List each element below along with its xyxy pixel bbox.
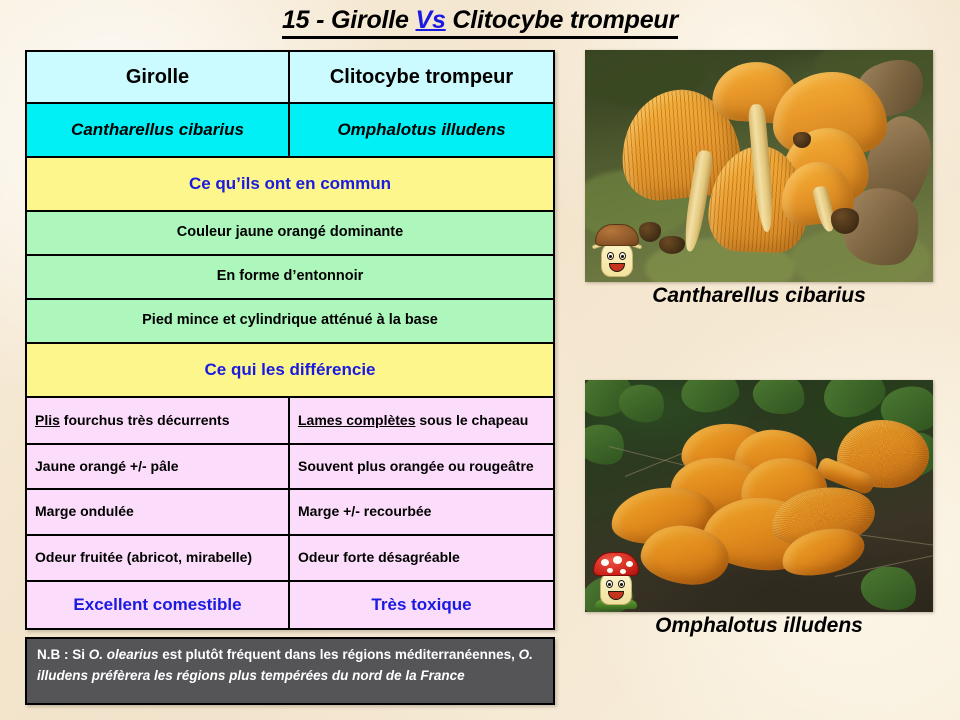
photo-omphalotus-illudens — [585, 380, 933, 612]
table-row-difference-4: Odeur fruitée (abricot, mirabelle) Odeur… — [27, 536, 553, 582]
table-row-verdict: Excellent comestible Très toxique — [27, 582, 553, 628]
amanita-cap-spot — [620, 569, 626, 574]
difference-right-gills: Lames complètes sous le chapeau — [290, 398, 553, 443]
photo-cantharellus-scene — [585, 50, 933, 282]
header-cell-clitocybe: Clitocybe trompeur — [290, 52, 553, 102]
amanita-mascot-body — [600, 571, 632, 605]
common-trait-stem: Pied mince et cylindrique atténué à la b… — [27, 300, 553, 342]
amanita-cap-spot — [613, 556, 622, 564]
page-title-vs: Vs — [416, 6, 446, 34]
amanita-mascot-cap — [593, 552, 639, 576]
common-banner-label: Ce qu’ils ont en commun — [27, 158, 553, 210]
difference-right-odor: Odeur forte désagréable — [290, 536, 553, 580]
ivy-leaf — [585, 416, 631, 471]
verdict-toxic: Très toxique — [290, 582, 553, 628]
header-cell-girolle: Girolle — [27, 52, 290, 102]
amanita-cap-spot — [626, 561, 633, 567]
verdict-edible: Excellent comestible — [27, 582, 290, 628]
acorn — [639, 222, 661, 242]
difference-right-gills-rest: sous le chapeau — [416, 412, 529, 428]
amanita-mascot-eye-right — [618, 580, 625, 588]
differences-banner-label: Ce qui les différencie — [27, 344, 553, 396]
note-part2: est plutôt fréquent dans les régions méd… — [159, 647, 519, 662]
amanita-mascot-eye-left — [606, 580, 613, 588]
difference-left-gills: Plis fourchus très décurrents — [27, 398, 290, 443]
ivy-leaf — [750, 380, 808, 418]
comparison-table: Girolle Clitocybe trompeur Cantharellus … — [25, 50, 555, 630]
amanita-cap-spot — [607, 568, 613, 573]
cep-mascot-cap — [595, 224, 639, 246]
difference-left-odor: Odeur fruitée (abricot, mirabelle) — [27, 536, 290, 580]
ivy-leaf — [818, 380, 890, 423]
cep-mascot-body — [601, 241, 633, 277]
ivy-leaf — [857, 560, 922, 612]
page-title: 15 - Girolle Vs Clitocybe trompeur — [282, 6, 678, 39]
cep-mascot-eye-left — [607, 252, 614, 260]
table-row-common-3: Pied mince et cylindrique atténué à la b… — [27, 300, 553, 344]
common-trait-shape: En forme d’entonnoir — [27, 256, 553, 298]
page-title-prefix: 15 - Girolle — [282, 6, 416, 34]
photo-caption-cantharellus: Cantharellus cibarius — [585, 284, 933, 308]
table-row-difference-3: Marge ondulée Marge +/- recourbée — [27, 490, 553, 536]
table-row-common-banner: Ce qu’ils ont en commun — [27, 158, 553, 212]
table-row-difference-1: Plis fourchus très décurrents Lames comp… — [27, 398, 553, 445]
note-italic-olearius: O. olearius — [89, 647, 159, 662]
latin-name-omphalotus: Omphalotus illudens — [290, 104, 553, 156]
table-row-common-2: En forme d’entonnoir — [27, 256, 553, 300]
amanita-mascot-icon — [593, 552, 639, 608]
difference-right-color: Souvent plus orangée ou rougeâtre — [290, 445, 553, 488]
difference-left-gills-underline: Plis — [35, 412, 60, 428]
amanita-cap-spot — [601, 559, 609, 566]
photo-omphalotus-scene — [585, 380, 933, 612]
note-block: N.B : Si O. olearius est plutôt fréquent… — [25, 637, 555, 705]
difference-right-gills-underline: Lames complètes — [298, 412, 416, 428]
table-row-latin-names: Cantharellus cibarius Omphalotus illuden… — [27, 104, 553, 158]
difference-left-margin: Marge ondulée — [27, 490, 290, 534]
amanita-mascot-mouth — [608, 591, 624, 600]
table-row-difference-2: Jaune orangé +/- pâle Souvent plus orang… — [27, 445, 553, 490]
table-row-header: Girolle Clitocybe trompeur — [27, 52, 553, 104]
table-row-differences-banner: Ce qui les différencie — [27, 344, 553, 398]
page-title-suffix: Clitocybe trompeur — [446, 6, 678, 34]
cep-mascot-eye-right — [619, 252, 626, 260]
common-trait-color: Couleur jaune orangé dominante — [27, 212, 553, 254]
note-part1: N.B : Si — [37, 647, 89, 662]
difference-left-color: Jaune orangé +/- pâle — [27, 445, 290, 488]
difference-right-margin: Marge +/- recourbée — [290, 490, 553, 534]
page-title-container: 15 - Girolle Vs Clitocybe trompeur — [0, 6, 960, 39]
cep-mascot-mouth — [609, 263, 625, 272]
photo-cantharellus-cibarius — [585, 50, 933, 282]
photo-caption-omphalotus: Omphalotus illudens — [585, 614, 933, 638]
cep-mascot-icon — [595, 224, 639, 278]
table-row-common-1: Couleur jaune orangé dominante — [27, 212, 553, 256]
ivy-leaf — [679, 380, 741, 415]
latin-name-cantharellus: Cantharellus cibarius — [27, 104, 290, 156]
difference-left-gills-rest: fourchus très décurrents — [60, 412, 230, 428]
